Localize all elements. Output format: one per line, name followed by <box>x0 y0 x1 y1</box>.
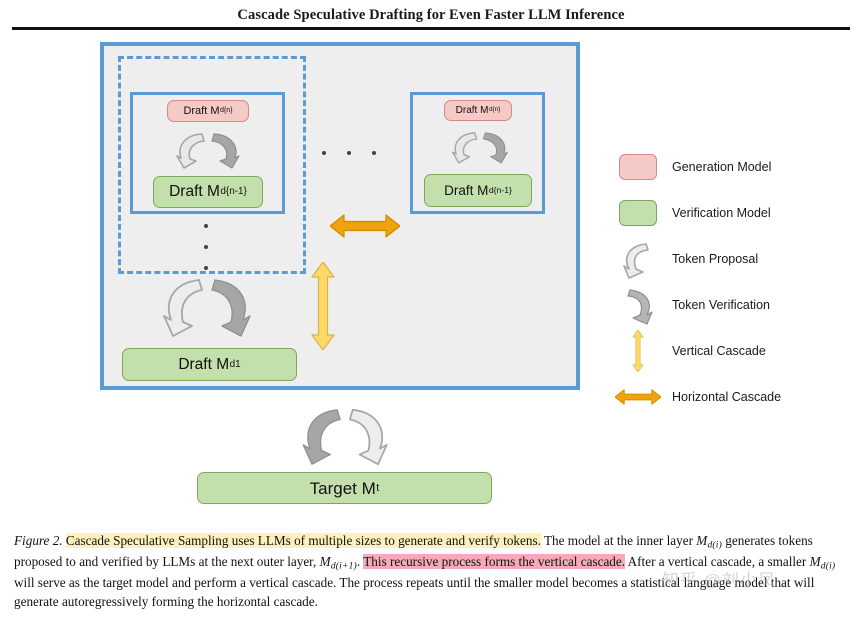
verification-model-right: Draft Md{n-1} <box>424 174 532 207</box>
legend-label-verification-model: Verification Model <box>664 206 771 220</box>
token-cycle-right <box>442 124 518 170</box>
legend-label-vertical-cascade: Vertical Cascade <box>664 344 766 358</box>
horizontal-ellipsis <box>322 148 376 158</box>
header-divider <box>12 27 850 30</box>
curved-arrow-right-icon <box>621 285 655 325</box>
legend: Generation Model Verification Model Toke… <box>612 144 860 420</box>
legend-label-horizontal-cascade: Horizontal Cascade <box>664 390 781 404</box>
caption-figure-label: Figure 2. <box>14 533 63 548</box>
caption-math-2-base: M <box>320 554 331 569</box>
caption-math-3-sub: d(i) <box>821 562 836 572</box>
caption-highlight-pink: This recursive process forms the vertica… <box>363 554 625 569</box>
figure-caption: Figure 2. Cascade Speculative Sampling u… <box>14 532 854 612</box>
legend-label-token-proposal: Token Proposal <box>664 252 758 266</box>
caption-math-3: Md(i) <box>810 554 836 569</box>
verification-model-left-label: Draft M <box>169 184 220 200</box>
token-cycle-left <box>165 126 251 174</box>
curved-arrow-left-icon <box>621 239 655 279</box>
legend-swatch-wrap <box>612 190 664 236</box>
generation-model-left-sub: d{n} <box>220 107 233 114</box>
verification-model-left-sub: d{n-1} <box>220 187 247 197</box>
ellipsis-dot <box>204 245 208 249</box>
orange-double-arrow-horizontal-icon <box>615 387 661 407</box>
page-root: Cascade Speculative Drafting for Even Fa… <box>0 0 862 619</box>
caption-math-2-sub: d(i+1) <box>331 562 357 572</box>
caption-segment-2: The model at the inner layer <box>541 533 696 548</box>
legend-swatch-wrap <box>612 374 664 420</box>
draft-model-d1-sub: d1 <box>229 360 241 370</box>
caption-math-1-sub: d(i) <box>707 541 722 551</box>
pink-rounded-square-icon <box>619 154 657 180</box>
yellow-double-arrow-vertical-icon <box>627 330 649 372</box>
vertical-cascade-arrow <box>309 262 337 350</box>
ellipsis-dot <box>204 266 208 270</box>
page-title: Cascade Speculative Drafting for Even Fa… <box>237 7 624 24</box>
horizontal-cascade-arrow <box>330 212 400 240</box>
verification-model-right-label: Draft M <box>444 184 488 198</box>
target-model-label: Target M <box>310 480 376 497</box>
legend-item-horizontal-cascade: Horizontal Cascade <box>612 374 860 420</box>
caption-highlight-yellow: Cascade Speculative Sampling uses LLMs o… <box>66 533 541 548</box>
legend-swatch-wrap <box>612 236 664 282</box>
legend-label-token-verification: Token Verification <box>664 298 770 312</box>
caption-math-2: Md(i+1) <box>320 554 357 569</box>
ellipsis-dot <box>322 151 326 155</box>
target-model: Target Mt <box>197 472 492 504</box>
legend-item-vertical-cascade: Vertical Cascade <box>612 328 860 374</box>
verification-model-right-sub: d{n-1} <box>488 186 512 195</box>
caption-math-1-base: M <box>696 533 707 548</box>
figure-diagram: Draft Md{n} Draft Md{n-1} Draft Md{n} Dr… <box>0 34 862 524</box>
legend-swatch-wrap <box>612 328 664 374</box>
legend-label-generation-model: Generation Model <box>664 160 771 174</box>
draft-model-d1-label: Draft M <box>178 357 229 373</box>
legend-swatch-wrap <box>612 144 664 190</box>
token-cycle-target <box>288 402 402 472</box>
generation-model-right: Draft Md{n} <box>444 100 512 121</box>
token-cycle-draft-d1 <box>152 272 262 344</box>
generation-model-left-label: Draft M <box>183 106 219 117</box>
caption-segment-6: will serve as the target model and perfo… <box>14 575 814 609</box>
target-model-sub: t <box>376 483 380 494</box>
caption-math-1: Md(i) <box>696 533 722 548</box>
generation-model-right-sub: d{n} <box>488 107 500 113</box>
legend-item-token-proposal: Token Proposal <box>612 236 860 282</box>
legend-item-token-verification: Token Verification <box>612 282 860 328</box>
generation-model-right-label: Draft M <box>456 106 489 116</box>
green-rounded-square-icon <box>619 200 657 226</box>
ellipsis-dot <box>372 151 376 155</box>
legend-swatch-wrap <box>612 282 664 328</box>
caption-math-3-base: M <box>810 554 821 569</box>
generation-model-left: Draft Md{n} <box>167 100 249 122</box>
page-header: Cascade Speculative Drafting for Even Fa… <box>0 0 862 30</box>
verification-model-left: Draft Md{n-1} <box>153 176 263 208</box>
legend-item-verification-model: Verification Model <box>612 190 860 236</box>
ellipsis-dot <box>347 151 351 155</box>
ellipsis-dot <box>204 224 208 228</box>
draft-model-d1: Draft Md1 <box>122 348 297 381</box>
legend-item-generation-model: Generation Model <box>612 144 860 190</box>
vertical-ellipsis <box>203 224 209 270</box>
caption-segment-5: After a vertical cascade, a smaller <box>625 554 810 569</box>
